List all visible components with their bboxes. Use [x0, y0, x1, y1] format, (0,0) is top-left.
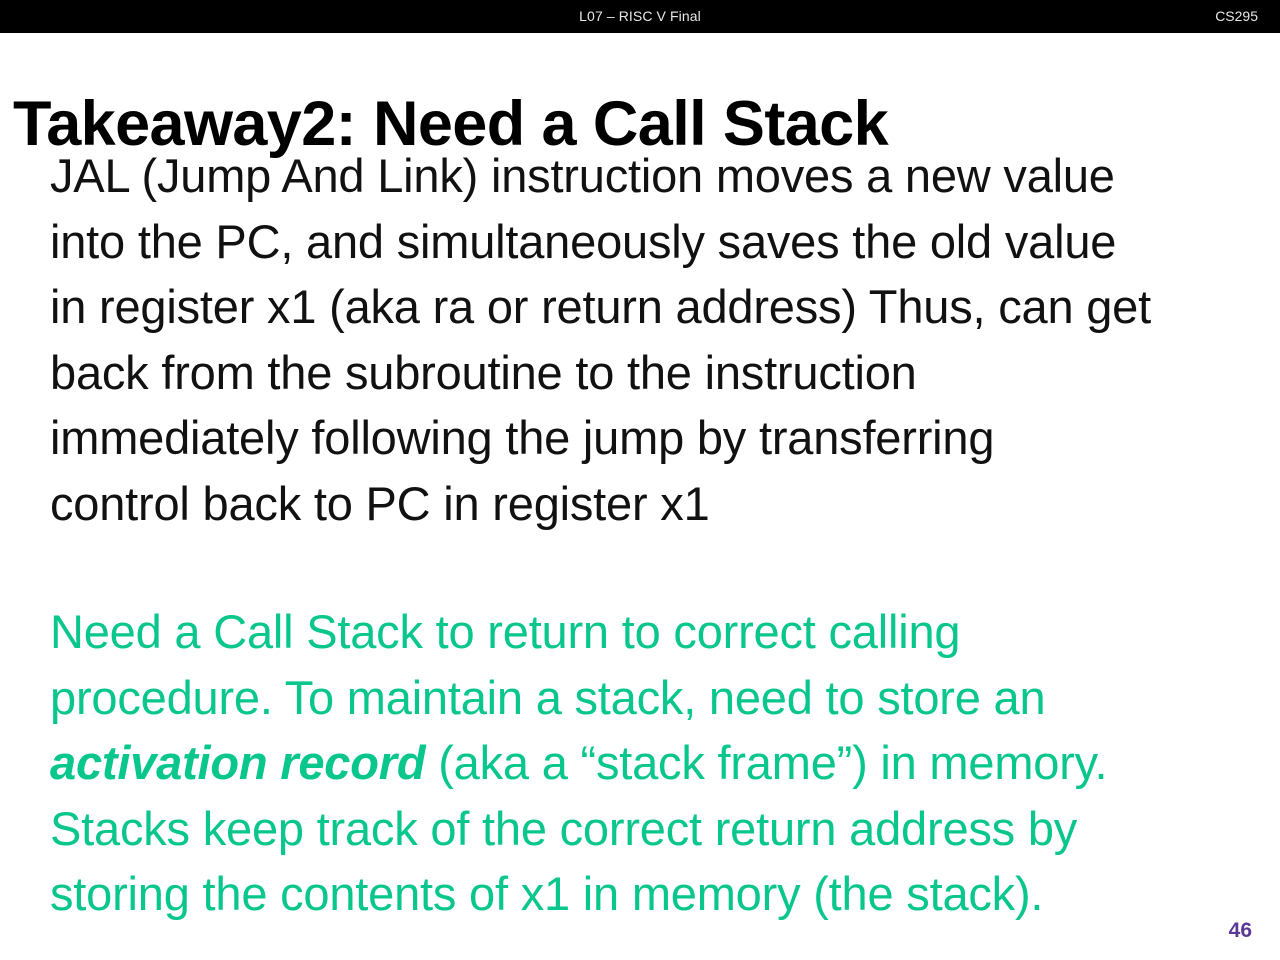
paragraph-line: activation record (aka a “stack frame”) … [50, 730, 1245, 796]
paragraph-line: into the PC, and simultaneously saves th… [50, 209, 1245, 275]
page-number: 46 [1229, 919, 1252, 943]
header-course-code: CS295 [1215, 0, 1258, 33]
paragraph-line: storing the contents of x1 in memory (th… [50, 861, 1245, 927]
slide-header-bar: L07 – RISC V Final CS295 [0, 0, 1280, 33]
paragraph-line: JAL (Jump And Link) instruction moves a … [50, 143, 1245, 209]
slide-canvas: L07 – RISC V Final CS295 Takeaway2: Need… [0, 0, 1280, 960]
paragraph-jal-explanation: JAL (Jump And Link) instruction moves a … [50, 143, 1245, 536]
header-lecture-title: L07 – RISC V Final [0, 0, 1280, 33]
paragraph-line: immediately following the jump by transf… [50, 405, 1245, 471]
paragraph-line: in register x1 (aka ra or return address… [50, 274, 1245, 340]
paragraph-line: procedure. To maintain a stack, need to … [50, 665, 1245, 731]
paragraph-line: Need a Call Stack to return to correct c… [50, 599, 1245, 665]
paragraph-call-stack: Need a Call Stack to return to correct c… [50, 599, 1245, 927]
paragraph-line: Stacks keep track of the correct return … [50, 796, 1245, 862]
paragraph-line: control back to PC in register x1 [50, 471, 1245, 537]
paragraph-line-remainder: (aka a “stack frame”) in memory. [425, 736, 1107, 789]
paragraph-line: back from the subroutine to the instruct… [50, 340, 1245, 406]
emphasis-activation-record: activation record [50, 736, 425, 789]
